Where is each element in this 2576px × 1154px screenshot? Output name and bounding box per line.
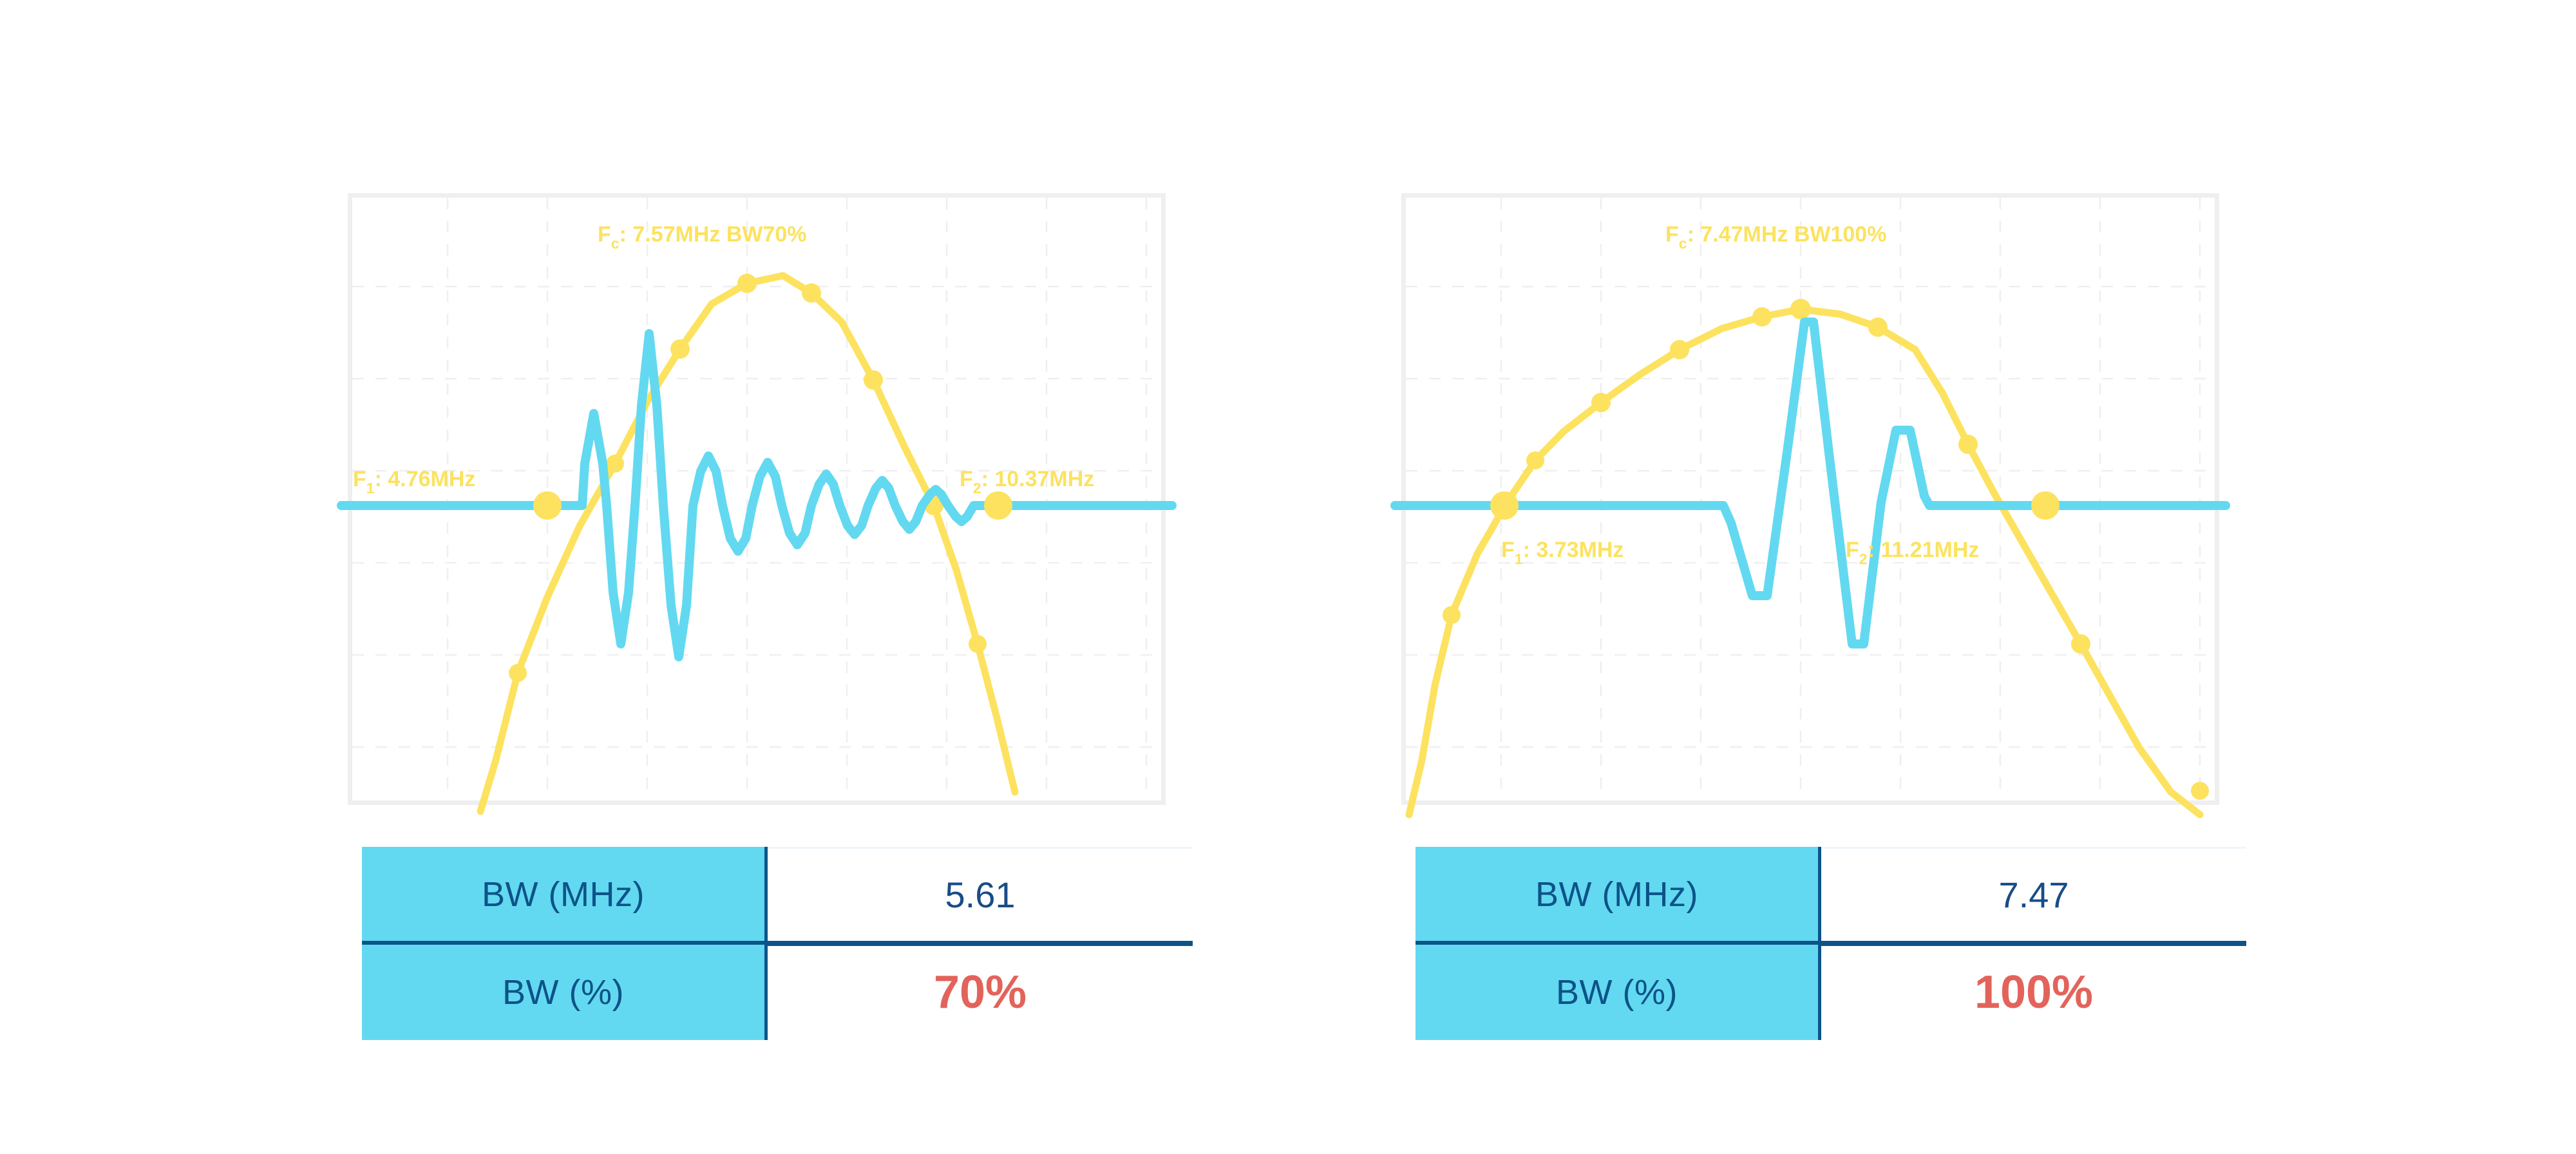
chart-plot-left: Fc: 7.57MHz BW70% F1: 4.76MHz F2: 10.37M… (348, 193, 1166, 805)
bw-table-right: BW (MHz) 7.47 BW (%) 100% (1416, 847, 2246, 1040)
annotation-f1-prefix-left: F (353, 467, 366, 491)
chart-plot-right: Fc: 7.47MHz BW100% F1: 3.73MHz F2: 11.21… (1401, 193, 2219, 805)
panel-container: Fc: 7.57MHz BW70% F1: 4.76MHz F2: 10.37M… (0, 0, 2576, 1154)
annotation-f2-right: F2: 11.21MHz (1846, 538, 1979, 567)
annotation-center-sub-left: c (611, 235, 620, 252)
annotation-f2-prefix-left: F (960, 467, 973, 491)
annotation-f2-text-right: : 11.21MHz (1868, 538, 1980, 562)
annotation-f1-right: F1: 3.73MHz (1501, 538, 1624, 567)
bw-value-mhz-right: 7.47 (1821, 847, 2246, 942)
gridlines-right (1406, 198, 2215, 800)
annotation-center-sub-right: c (1679, 235, 1687, 252)
bw-row-percent-left: BW (%) 70% (362, 945, 1193, 1040)
chart-panel-right: Fc: 7.47MHz BW100% F1: 3.73MHz F2: 11.21… (1401, 193, 2219, 805)
chart-frame-left: Fc: 7.57MHz BW70% F1: 4.76MHz F2: 10.37M… (348, 193, 1166, 805)
bw-value-percent-left: 70% (768, 945, 1193, 1040)
chart-frame-right: Fc: 7.47MHz BW100% F1: 3.73MHz F2: 11.21… (1401, 193, 2219, 805)
annotation-f1-sub-right: 1 (1515, 551, 1523, 567)
annotation-f1-prefix-right: F (1501, 538, 1515, 562)
bw-label-percent-left: BW (%) (362, 945, 764, 1040)
annotation-f2-sub-right: 2 (1859, 551, 1868, 567)
chart-panel-left: Fc: 7.57MHz BW70% F1: 4.76MHz F2: 10.37M… (348, 193, 1166, 805)
bw-table-left: BW (MHz) 5.61 BW (%) 70% (362, 847, 1193, 1040)
bw-label-percent-right: BW (%) (1416, 945, 1818, 1040)
annotation-f2-prefix-right: F (1846, 538, 1859, 562)
bw-row-mhz-left: BW (MHz) 5.61 (362, 847, 1193, 942)
bw-value-mhz-left: 5.61 (768, 847, 1193, 942)
annotation-center-right: Fc: 7.47MHz BW100% (1665, 222, 1886, 252)
annotation-f1-left: F1: 4.76MHz (353, 467, 475, 497)
bw-row-mhz-right: BW (MHz) 7.47 (1416, 847, 2246, 942)
annotation-f1-text-left: : 4.76MHz (375, 467, 476, 491)
pulse-waveform-left (341, 334, 1172, 657)
annotation-f2-sub-left: 2 (973, 480, 981, 497)
annotation-f2-text-left: : 10.37MHz (981, 467, 1095, 491)
annotation-center-text-right: : 7.47MHz BW100% (1687, 222, 1887, 247)
bw-value-percent-right: 100% (1821, 945, 2246, 1040)
annotation-center-text-left: : 7.57MHz BW70% (620, 222, 807, 247)
bw-label-mhz-right: BW (MHz) (1416, 847, 1818, 942)
annotation-center-prefix-left: F (598, 222, 611, 247)
annotation-center-prefix-right: F (1665, 222, 1679, 247)
annotation-f1-sub-left: 1 (366, 480, 375, 497)
annotation-f1-text-right: : 3.73MHz (1523, 538, 1624, 562)
bw-label-mhz-left: BW (MHz) (362, 847, 764, 942)
bw-row-percent-right: BW (%) 100% (1416, 945, 2246, 1040)
annotation-center-left: Fc: 7.57MHz BW70% (598, 222, 807, 252)
